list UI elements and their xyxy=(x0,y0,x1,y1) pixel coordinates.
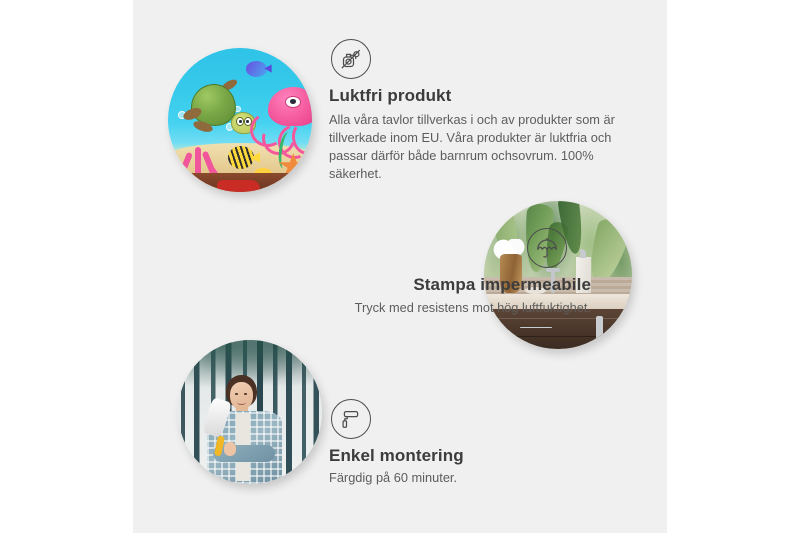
feature-image-underwater-kids-scene xyxy=(168,48,312,192)
umbrella-glyph xyxy=(534,235,560,261)
sea-turtle xyxy=(187,84,253,136)
paint-roller-glyph xyxy=(338,406,364,432)
octopus-eye xyxy=(285,96,300,108)
drawer-handle xyxy=(520,327,553,329)
feature-title: Luktfri produkt xyxy=(329,86,621,106)
umbrella-icon xyxy=(527,228,567,268)
paint-roller-icon xyxy=(331,399,371,439)
cabinet-drawer xyxy=(493,318,623,338)
feature-body: Färgdig på 60 minuter. xyxy=(329,469,589,487)
painter-woman xyxy=(204,375,293,484)
feature-block-odourless: Luktfri produkt Alla våra tavlor tillver… xyxy=(329,39,621,183)
turtle-eye xyxy=(236,117,244,126)
feature-body: Alla våra tavlor tillverkas i och av pro… xyxy=(329,111,621,183)
feature-body: Tryck med resistens mot hög luftfuktighe… xyxy=(208,299,591,317)
eye xyxy=(244,393,247,395)
no-fragrance-glyph xyxy=(338,46,364,72)
door-handle xyxy=(596,316,603,339)
feature-title: Stampa impermeabile xyxy=(208,275,591,295)
smile xyxy=(237,400,246,405)
hand xyxy=(224,442,236,455)
underwater-illustration xyxy=(168,48,312,192)
no-fragrance-icon xyxy=(331,39,371,79)
eye xyxy=(235,393,238,395)
infographic-page: Luktfri produkt Alla våra tavlor tillver… xyxy=(0,0,800,533)
feature-block-waterproof: Stampa impermeabile Tryck med resistens … xyxy=(208,228,591,317)
feature-image-painter-woman-forest-mural xyxy=(178,340,322,484)
feature-title: Enkel montering xyxy=(329,446,589,466)
blue-fish xyxy=(246,61,268,77)
feature-block-assembly: Enkel montering Färgdig på 60 minuter. xyxy=(329,399,589,487)
infographic-panel: Luktfri produkt Alla våra tavlor tillver… xyxy=(133,0,667,533)
red-object xyxy=(217,180,260,192)
octopus-head xyxy=(268,87,312,126)
painter-photo xyxy=(178,340,322,484)
